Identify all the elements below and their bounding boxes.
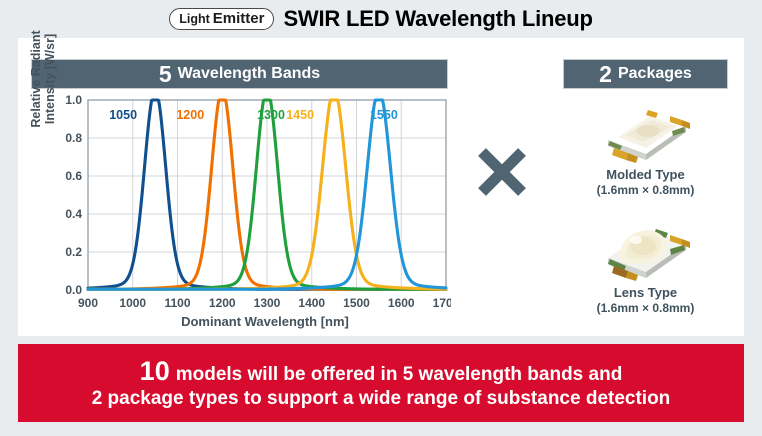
banner-line-2: 2 package types to support a wide range …	[92, 389, 671, 409]
swir-led-lineup-infographic: Light Emitter SWIR LED Wavelength Lineup…	[0, 0, 762, 436]
page-title: SWIR LED Wavelength Lineup	[283, 6, 592, 32]
chart-plot-svg: 0.00.20.40.60.81.09001000110012001300140…	[31, 92, 451, 312]
packages-label: Packages	[618, 66, 692, 82]
chart-peak-label-1050: 1050	[109, 108, 137, 122]
package-lens-name: Lens Type	[563, 285, 728, 300]
bands-label: Wavelength Bands	[178, 66, 321, 82]
lens-led-package-icon	[586, 210, 706, 284]
bands-count: 5	[159, 63, 172, 86]
chart-x-tick: 1600	[388, 296, 415, 310]
chart-x-tick: 1300	[254, 296, 281, 310]
package-molded-dimensions: (1.6mm × 0.8mm)	[563, 183, 728, 197]
page-header: Light Emitter SWIR LED Wavelength Lineup	[0, 0, 762, 38]
chart-peak-label-1200: 1200	[176, 108, 204, 122]
package-lens-dimensions: (1.6mm × 0.8mm)	[563, 301, 728, 315]
chart-peak-label-1550: 1550	[370, 108, 398, 122]
packages-header-bar: 2 Packages	[563, 59, 728, 89]
wavelength-bands-header-bar: 5 Wavelength Bands	[31, 59, 448, 89]
banner-line-1: 10 models will be offered in 5 wavelengt…	[140, 358, 623, 385]
chart-y-tick: 1.0	[65, 93, 82, 107]
chart-peak-label-1450: 1450	[286, 108, 314, 122]
chart-x-tick: 1200	[209, 296, 236, 310]
chart-y-tick: 0.6	[65, 169, 82, 183]
chart-peak-label-1300: 1300	[257, 108, 285, 122]
multiply-icon	[470, 140, 534, 204]
banner-model-count: 10	[140, 358, 170, 385]
chart-y-tick: 0.4	[65, 207, 82, 221]
chart-y-tick: 0.2	[65, 245, 82, 259]
chart-x-tick: 1700	[433, 296, 451, 310]
chart-y-tick: 0.8	[65, 131, 82, 145]
badge-light-text: Light	[179, 13, 210, 26]
light-emitter-badge: Light Emitter	[169, 8, 274, 30]
chart-x-tick: 900	[78, 296, 98, 310]
package-molded-type: Molded Type (1.6mm × 0.8mm)	[563, 92, 728, 197]
chart-x-tick: 1500	[343, 296, 370, 310]
summary-banner: 10 models will be offered in 5 wavelengt…	[18, 344, 744, 422]
chart-y-tick: 0.0	[65, 283, 82, 297]
chart-x-tick: 1400	[298, 296, 325, 310]
spectrum-chart: Relative Radiant Intensity [W/sr] 0.00.2…	[31, 92, 451, 332]
chart-x-axis-label: Dominant Wavelength [nm]	[79, 314, 451, 329]
molded-led-package-icon	[586, 92, 706, 166]
packages-count: 2	[599, 63, 612, 86]
package-lens-type: Lens Type (1.6mm × 0.8mm)	[563, 210, 728, 315]
banner-line-1-text: models will be offered in 5 wavelength b…	[176, 365, 623, 385]
package-molded-name: Molded Type	[563, 167, 728, 182]
chart-x-tick: 1000	[119, 296, 146, 310]
badge-emitter-text: Emitter	[213, 11, 265, 26]
chart-x-tick: 1100	[164, 296, 190, 310]
